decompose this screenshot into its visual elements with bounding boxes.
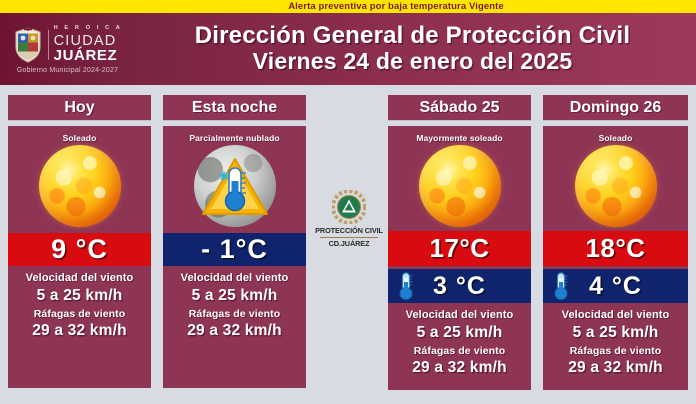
logo-juarez-text: JUÁREZ — [54, 48, 123, 64]
logo-divider — [48, 30, 49, 60]
wind-gust-value: 29 a 32 km/h — [8, 321, 151, 342]
forecast-card-sabado-25: Mayormente soleado 17°C — [388, 126, 531, 390]
wind-gust-label: Ráfagas de viento — [388, 344, 531, 358]
temperature-min-value: 4 °C — [589, 272, 642, 301]
logo-gobierno-text: Gobierno Municipal 2024-2027 — [17, 67, 118, 74]
coat-of-arms-shield-icon — [13, 27, 43, 63]
temperature-value: 9 °C — [51, 234, 108, 265]
moon-cold-warning-icon — [194, 145, 276, 227]
weather-icon-container — [543, 145, 688, 227]
forecast-card-esta-noche: Parcialmente nublado — [163, 126, 306, 388]
logo-ciudad-text: CIUDAD — [54, 34, 123, 49]
proteccion-civil-name: PROTECCIÓN CIVIL — [315, 226, 383, 235]
temperature-band-min: 3 °C — [388, 269, 531, 303]
tab-esta-noche[interactable]: Esta noche — [163, 95, 306, 120]
tab-sabado-25-label: Sábado 25 — [419, 99, 499, 117]
tab-hoy[interactable]: Hoy — [8, 95, 151, 120]
forecast-card-hoy: Soleado 9 °C Velocidad del viento 5 a 25… — [8, 126, 151, 388]
wind-block: Velocidad del viento 5 a 25 km/h Ráfagas… — [8, 271, 151, 342]
forecast-card-domingo-26: Soleado 18°C 4 °C — [543, 126, 688, 390]
alert-banner-text: Alerta preventiva por baja temperatura V… — [288, 1, 504, 12]
temperature-band-min: 4 °C — [543, 269, 688, 303]
page-header: H E R O I C A CIUDAD JUÁREZ Gobierno Mun… — [0, 13, 696, 85]
wind-speed-label: Velocidad del viento — [8, 271, 151, 286]
condition-label: Parcialmente nublado — [189, 133, 279, 143]
temperature-band-max: 18°C — [543, 231, 688, 266]
condition-label: Soleado — [599, 133, 633, 143]
temperature-band-primary: - 1°C — [163, 233, 306, 266]
wind-block: Velocidad del viento 5 a 25 km/h Ráfagas… — [163, 271, 306, 342]
sun-icon — [39, 145, 121, 227]
wind-speed-label: Velocidad del viento — [163, 271, 306, 286]
wind-speed-value: 5 a 25 km/h — [543, 323, 688, 344]
wind-speed-value: 5 a 25 km/h — [388, 323, 531, 344]
wind-gust-value: 29 a 32 km/h — [163, 321, 306, 342]
temperature-min-value: 3 °C — [433, 272, 486, 301]
page-date: Viernes 24 de enero del 2025 — [253, 49, 573, 75]
alert-banner: Alerta preventiva por baja temperatura V… — [0, 0, 696, 13]
wind-speed-value: 5 a 25 km/h — [163, 286, 306, 307]
proteccion-civil-logo: PROTECCIÓN CIVIL CD.JUÁREZ — [316, 190, 382, 248]
tab-domingo-26[interactable]: Domingo 26 — [543, 95, 688, 120]
proteccion-civil-rule — [320, 237, 378, 239]
proteccion-civil-triangle-emblem-icon — [332, 190, 366, 224]
municipal-logo: H E R O I C A CIUDAD JUÁREZ Gobierno Mun… — [0, 13, 135, 85]
proteccion-civil-subtitle: CD.JUÁREZ — [329, 239, 370, 248]
wind-speed-value: 5 a 25 km/h — [8, 286, 151, 307]
wind-speed-label: Velocidad del viento — [388, 308, 531, 323]
wind-gust-value: 29 a 32 km/h — [543, 358, 688, 379]
header-title-block: Dirección General de Protección Civil Vi… — [135, 13, 696, 85]
page-title: Dirección General de Protección Civil — [195, 23, 631, 49]
wind-block: Velocidad del viento 5 a 25 km/h Ráfagas… — [543, 308, 688, 379]
temperature-band-primary: 9 °C — [8, 233, 151, 266]
wind-block: Velocidad del viento 5 a 25 km/h Ráfagas… — [388, 308, 531, 379]
weather-icon-container — [388, 145, 531, 227]
sun-icon — [419, 145, 501, 227]
weather-icon-container — [163, 145, 306, 227]
temperature-value: - 1°C — [201, 234, 268, 265]
logo-heroica-text: H E R O I C A — [54, 26, 123, 32]
temperature-max-value: 18°C — [585, 233, 645, 264]
thermometer-cold-icon — [396, 271, 416, 301]
condition-label: Mayormente soleado — [416, 133, 502, 143]
wind-speed-label: Velocidad del viento — [543, 308, 688, 323]
temperature-max-value: 17°C — [429, 233, 489, 264]
thermometer-cold-icon — [551, 271, 571, 301]
condition-label: Soleado — [63, 133, 97, 143]
tab-domingo-26-label: Domingo 26 — [570, 99, 662, 117]
tab-esta-noche-label: Esta noche — [192, 99, 277, 117]
wind-gust-value: 29 a 32 km/h — [388, 358, 531, 379]
wind-gust-label: Ráfagas de viento — [8, 307, 151, 321]
wind-gust-label: Ráfagas de viento — [163, 307, 306, 321]
temperature-band-max: 17°C — [388, 231, 531, 266]
tab-sabado-25[interactable]: Sábado 25 — [388, 95, 531, 120]
sun-icon — [575, 145, 657, 227]
wind-gust-label: Ráfagas de viento — [543, 344, 688, 358]
tab-hoy-label: Hoy — [64, 99, 94, 117]
weather-icon-container — [8, 145, 151, 227]
